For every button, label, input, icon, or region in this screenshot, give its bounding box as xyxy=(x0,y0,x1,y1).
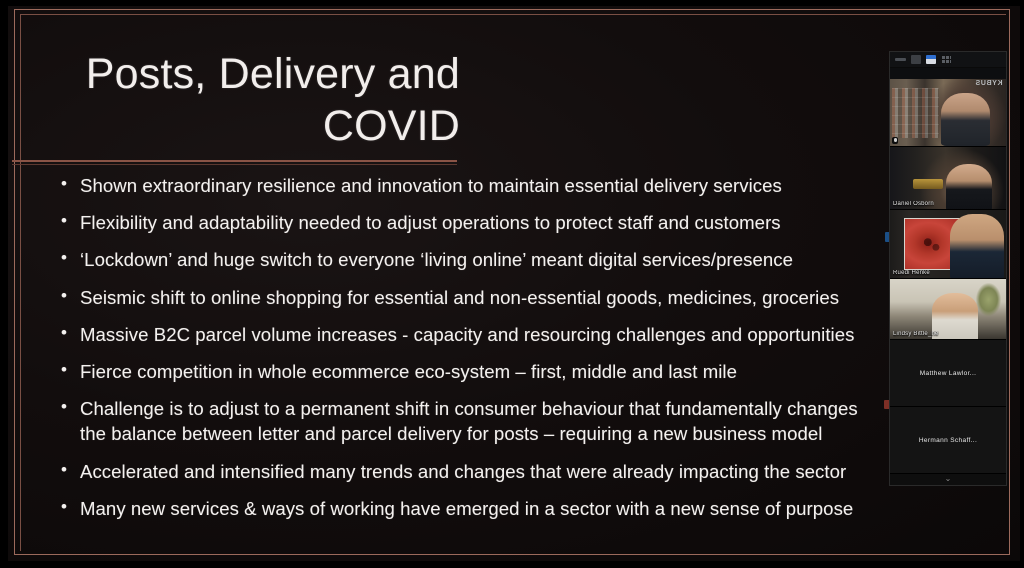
video-conference-filmstrip[interactable]: KYBUS Daniel Osborn Ruedi Henke Lindsy B… xyxy=(889,51,1007,486)
screen-edge-bottom xyxy=(0,561,1024,568)
microphone-icon xyxy=(892,137,898,144)
title-block: Posts, Delivery and COVID xyxy=(60,48,460,153)
bullet-list: Shown extraordinary resilience and innov… xyxy=(58,174,988,534)
video-feed xyxy=(890,147,1006,209)
participant-silhouette xyxy=(946,164,992,210)
list-item: Fierce competition in whole ecommerce ec… xyxy=(58,360,988,385)
video-feed xyxy=(890,279,1006,339)
list-item: Shown extraordinary resilience and innov… xyxy=(58,174,988,199)
list-item: Accelerated and intensified many trends … xyxy=(58,460,988,485)
slide-surface: Posts, Delivery and COVID Shown extraord… xyxy=(0,0,1024,568)
list-item: Many new services & ways of working have… xyxy=(58,497,988,522)
participant-name: Daniel Osborn xyxy=(893,201,934,207)
list-item: Seismic shift to online shopping for ess… xyxy=(58,286,988,311)
chevron-down-icon[interactable]: ⌄ xyxy=(890,475,1006,483)
list-item: Flexibility and adaptability needed to a… xyxy=(58,211,988,236)
video-tile[interactable]: Hermann Schaff... xyxy=(890,407,1006,474)
slide-title: Posts, Delivery and COVID xyxy=(60,48,460,153)
minimize-icon[interactable] xyxy=(895,58,906,61)
title-divider xyxy=(12,160,457,162)
gallery-view-icon[interactable] xyxy=(941,55,951,64)
video-tile[interactable]: KYBUS xyxy=(890,68,1006,147)
participant-silhouette xyxy=(950,214,1003,279)
background-lamp xyxy=(913,179,943,189)
title-divider-shadow xyxy=(12,164,457,165)
list-item: Challenge is to adjust to a permanent sh… xyxy=(58,397,988,446)
participant-name: Ruedi Henke xyxy=(893,270,930,276)
video-panel-toolbar[interactable] xyxy=(890,52,1006,68)
screen-edge-right xyxy=(1020,0,1024,568)
video-tile[interactable]: Lindsy Bittle_ne xyxy=(890,279,1006,340)
list-item: ‘Lockdown’ and huge switch to everyone ‘… xyxy=(58,248,988,273)
participant-name: Lindsy Bittle_ne xyxy=(893,331,939,337)
video-tile[interactable]: Matthew Lawlor... xyxy=(890,340,1006,407)
screen-edge-top xyxy=(0,0,1024,6)
background-shelf xyxy=(892,88,938,138)
presentation-screen-share: Posts, Delivery and COVID Shown extraord… xyxy=(0,0,1024,568)
video-feed xyxy=(890,210,1006,278)
background-plant xyxy=(976,283,1002,317)
screen-edge-left xyxy=(0,0,8,568)
sidebar-view-icon[interactable] xyxy=(911,55,921,64)
participant-silhouette xyxy=(941,93,990,146)
list-item: Massive B2C parcel volume increases - ca… xyxy=(58,323,988,348)
participant-silhouette xyxy=(932,293,978,340)
video-tile[interactable]: Daniel Osborn xyxy=(890,147,1006,210)
participant-name: Hermann Schaff... xyxy=(919,437,977,444)
video-tile[interactable]: Ruedi Henke xyxy=(890,210,1006,279)
participant-name: Matthew Lawlor... xyxy=(920,370,977,377)
speaker-view-icon[interactable] xyxy=(926,55,936,64)
video-watermark: KYBUS xyxy=(975,80,1003,87)
